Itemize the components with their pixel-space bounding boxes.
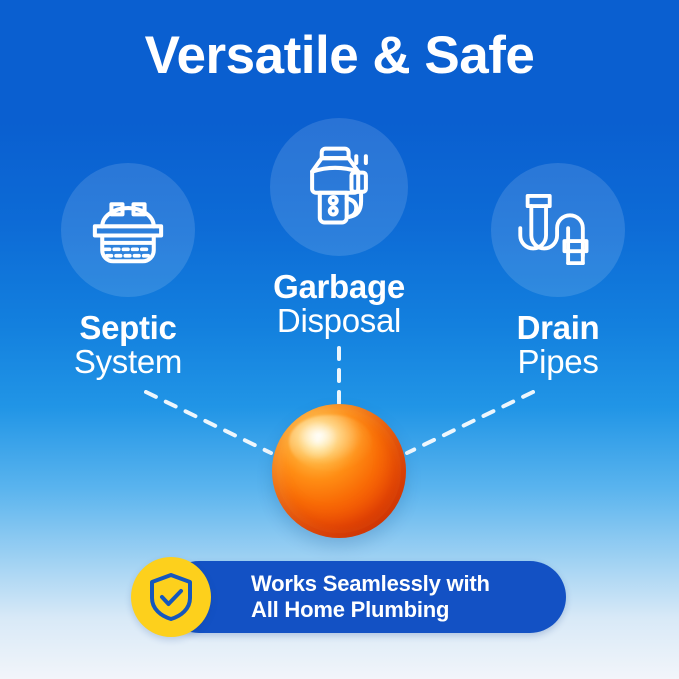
assurance-banner: Works Seamlessly with All Home Plumbing — [131, 557, 566, 637]
feature-drain-line1: Drain — [448, 311, 668, 345]
garbage-disposal-icon — [291, 139, 387, 235]
feature-septic-label: Septic System — [18, 311, 238, 380]
connector-line-drain — [407, 392, 533, 453]
feature-drain-icon-circle — [491, 163, 625, 297]
feature-drain-line2: Pipes — [448, 345, 668, 379]
feature-drain: Drain Pipes — [448, 163, 668, 380]
poster-canvas: Versatile & Safe — [0, 0, 679, 679]
shield-check-icon — [148, 572, 194, 622]
orange-gel-pod — [272, 404, 406, 538]
banner-line1: Works Seamlessly with — [251, 571, 551, 597]
feature-disposal-line2: Disposal — [229, 304, 449, 338]
feature-disposal-label: Garbage Disposal — [229, 270, 449, 339]
feature-disposal-line1: Garbage — [229, 270, 449, 304]
connector-line-septic — [146, 392, 271, 453]
pod-highlight — [289, 415, 372, 471]
page-title: Versatile & Safe — [0, 27, 679, 85]
septic-tank-icon — [82, 184, 174, 276]
banner-text: Works Seamlessly with All Home Plumbing — [251, 571, 551, 624]
banner-line2: All Home Plumbing — [251, 597, 551, 623]
feature-disposal: Garbage Disposal — [229, 118, 449, 339]
feature-disposal-icon-circle — [270, 118, 408, 256]
feature-septic-line2: System — [18, 345, 238, 379]
shield-badge — [131, 557, 211, 637]
feature-septic-line1: Septic — [18, 311, 238, 345]
feature-drain-label: Drain Pipes — [448, 311, 668, 380]
feature-septic-icon-circle — [61, 163, 195, 297]
drain-pipe-icon — [512, 184, 604, 276]
feature-septic: Septic System — [18, 163, 238, 380]
